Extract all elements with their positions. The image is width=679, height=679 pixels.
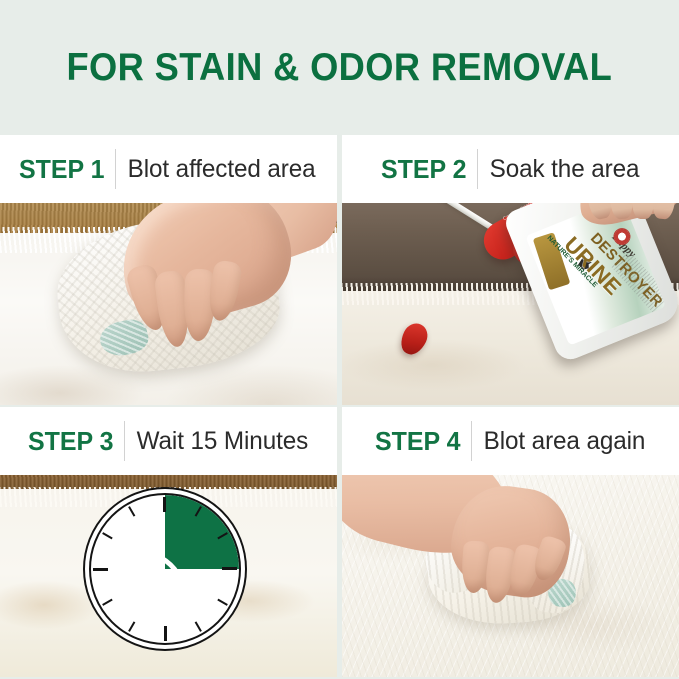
step-2-number: STEP 2 bbox=[381, 154, 477, 185]
step-4-number: STEP 4 bbox=[375, 426, 471, 457]
step-3-photo bbox=[0, 475, 337, 677]
step-4-instruction: Blot area again bbox=[472, 427, 645, 456]
step-4-caption: STEP 4 Blot area again bbox=[342, 407, 679, 475]
caption-inner: STEP 4 Blot area again bbox=[371, 421, 651, 461]
product-label: NATURE'S MIRACLE URINE DESTROYER Puppy bbox=[525, 203, 666, 346]
header-band: FOR STAIN & ODOR REMOVAL bbox=[0, 0, 679, 135]
caption-inner: STEP 3 Wait 15 Minutes bbox=[24, 421, 314, 461]
step-3-instruction: Wait 15 Minutes bbox=[125, 427, 308, 456]
caption-inner: STEP 1 Blot affected area bbox=[15, 149, 322, 189]
step-panel-1: STEP 1 Blot affected area bbox=[0, 135, 337, 405]
steps-grid: STEP 1 Blot affected area Caution: Keep … bbox=[0, 135, 679, 679]
step-1-caption: STEP 1 Blot affected area bbox=[0, 135, 337, 203]
step-3-caption: STEP 3 Wait 15 Minutes bbox=[0, 407, 337, 475]
step-2-instruction: Soak the area bbox=[478, 155, 639, 184]
step-2-photo: Caution: Keep out of reach of children N… bbox=[342, 203, 679, 405]
stain-odor-removal-infographic: FOR STAIN & ODOR REMOVAL bbox=[0, 0, 679, 679]
clock-direction-arrow-icon bbox=[91, 495, 239, 643]
step-1-number: STEP 1 bbox=[19, 154, 115, 185]
step-panel-4: STEP 4 Blot area again bbox=[342, 407, 679, 677]
page-title: FOR STAIN & ODOR REMOVAL bbox=[67, 46, 613, 90]
caption-inner: STEP 2 Soak the area bbox=[377, 149, 645, 189]
clock-face bbox=[89, 493, 241, 645]
step-3-number: STEP 3 bbox=[28, 426, 124, 457]
step-4-photo bbox=[342, 475, 679, 677]
clock-icon bbox=[83, 487, 247, 651]
step-1-instruction: Blot affected area bbox=[116, 155, 316, 184]
step-2-caption: STEP 2 Soak the area bbox=[342, 135, 679, 203]
step-1-photo bbox=[0, 203, 337, 405]
step-panel-3: STEP 3 Wait 15 Minutes bbox=[0, 407, 337, 677]
step-panel-2: Caution: Keep out of reach of children N… bbox=[342, 135, 679, 405]
